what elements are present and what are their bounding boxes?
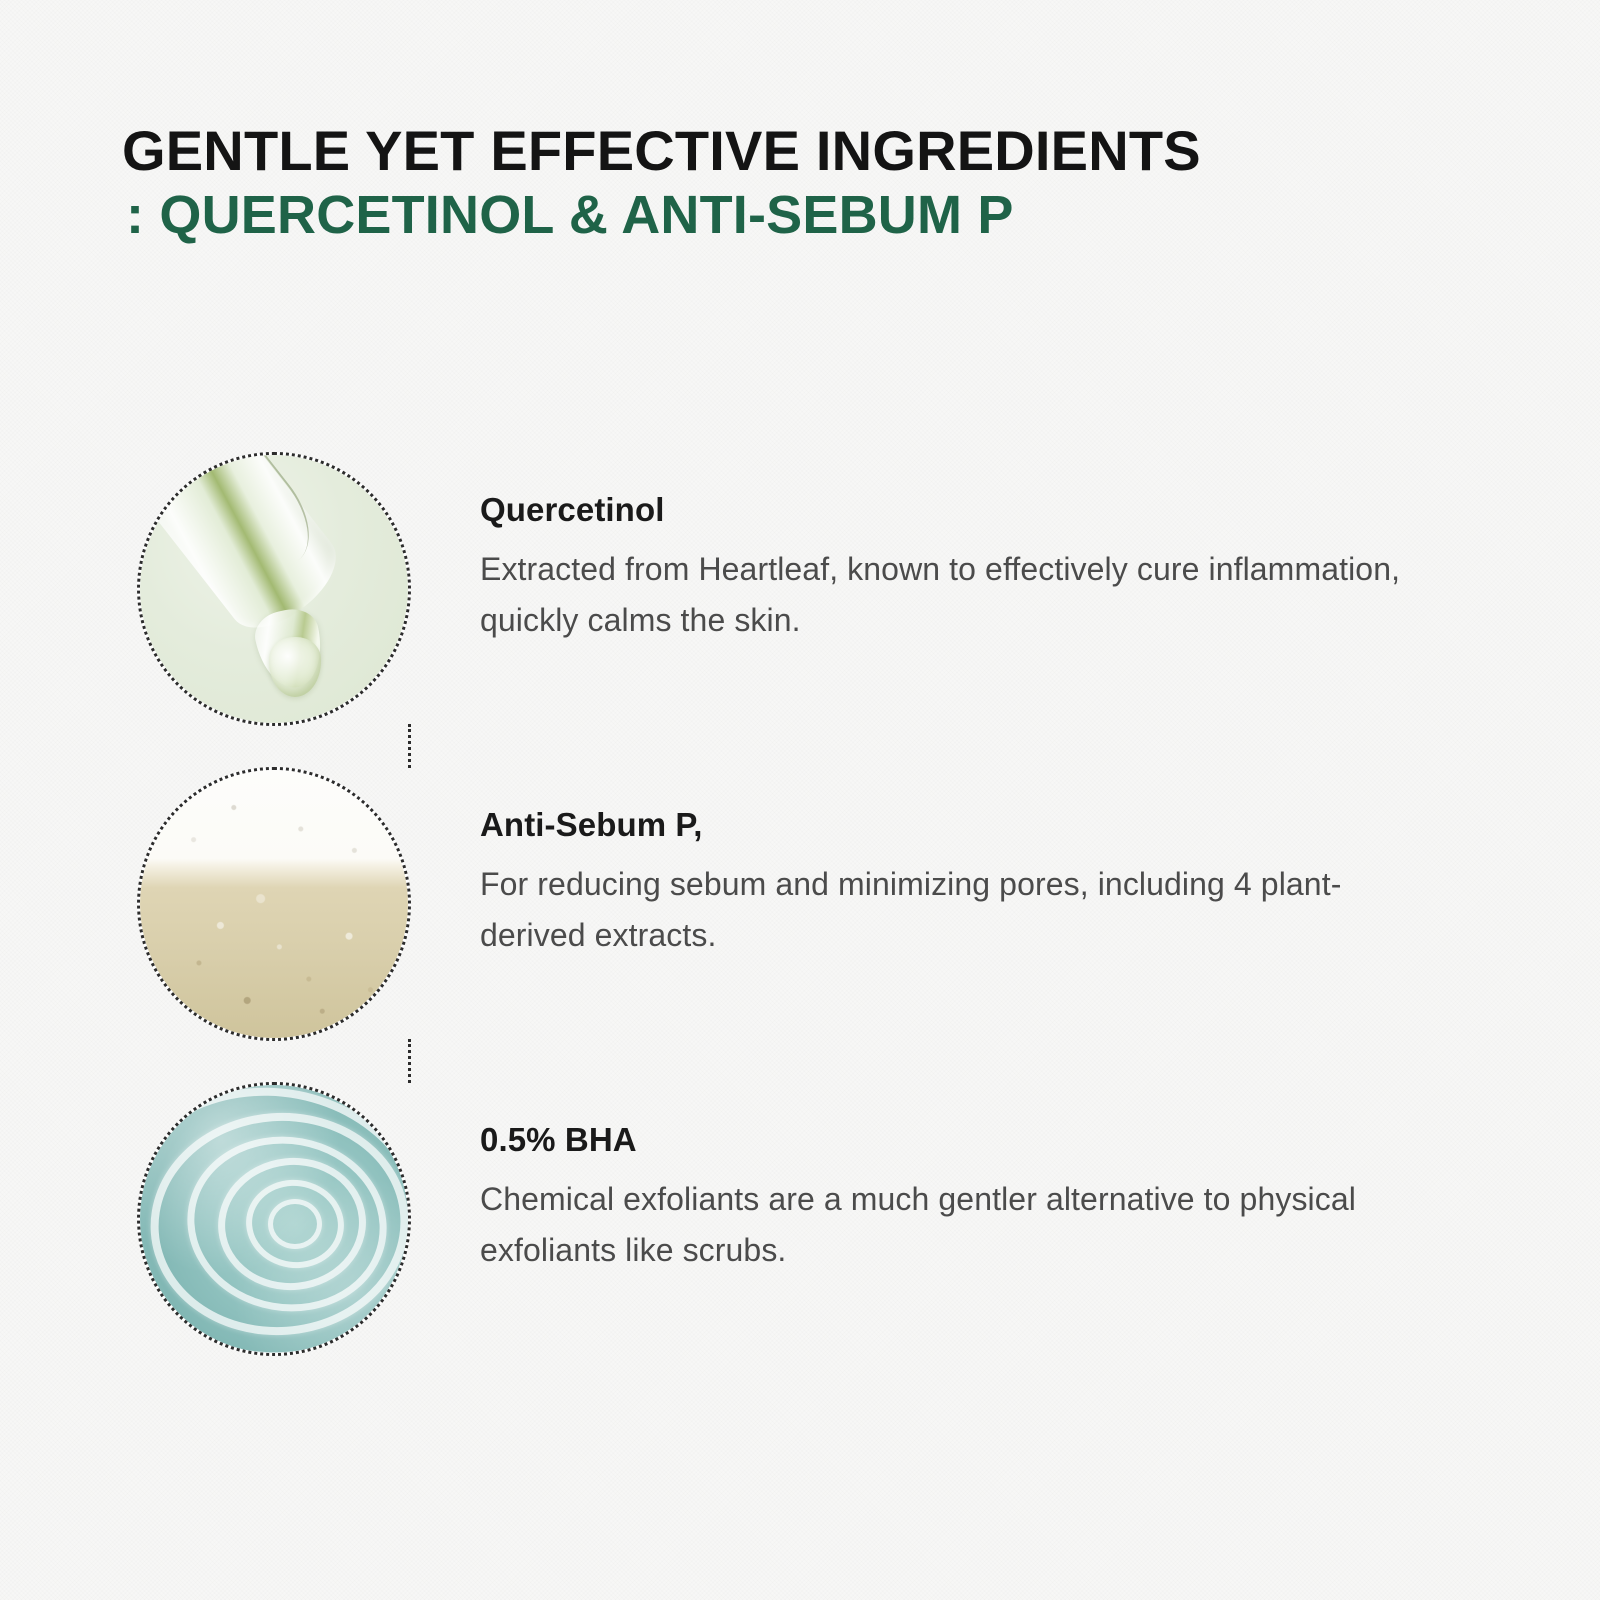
water-sheen-overlay [140, 1085, 408, 1353]
page-title: GENTLE YET EFFECTIVE INGREDIENTS : QUERC… [122, 118, 1462, 248]
teal-water-background [140, 1085, 408, 1353]
ingredient-media-bha [137, 1082, 411, 1356]
dropper-circle-icon [137, 452, 411, 726]
ingredient-media-anti-sebum-p [137, 767, 411, 1041]
ingredient-name: 0.5% BHA [480, 1120, 1430, 1160]
ingredient-row-bha: 0.5% BHA Chemical exfoliants are a much … [0, 1082, 1600, 1397]
ingredient-row-quercetinol: Quercetinol Extracted from Heartleaf, kn… [0, 452, 1600, 767]
ingredient-name: Anti-Sebum P, [480, 805, 1430, 845]
ingredient-media-quercetinol [137, 452, 411, 726]
headline-primary: GENTLE YET EFFECTIVE INGREDIENTS [122, 118, 1462, 184]
ingredient-list: Quercetinol Extracted from Heartleaf, kn… [0, 452, 1600, 1397]
ingredient-description: Extracted from Heartleaf, known to effec… [480, 544, 1430, 648]
ingredient-description: Chemical exfoliants are a much gentler a… [480, 1174, 1430, 1278]
ingredient-text-bha: 0.5% BHA Chemical exfoliants are a much … [480, 1120, 1430, 1277]
ingredient-description: For reducing sebum and minimizing pores,… [480, 859, 1430, 963]
dotted-connector-1 [408, 724, 411, 768]
ingredient-text-anti-sebum-p: Anti-Sebum P, For reducing sebum and min… [480, 805, 1430, 962]
water-ripple-circle-icon [137, 1082, 411, 1356]
dotted-connector-2 [408, 1039, 411, 1083]
headline-secondary: : QUERCETINOL & ANTI-SEBUM P [122, 184, 1462, 248]
ingredient-text-quercetinol: Quercetinol Extracted from Heartleaf, kn… [480, 490, 1430, 647]
ingredient-name: Quercetinol [480, 490, 1430, 530]
sand-speck-overlay [140, 770, 408, 1038]
exfoliant-circle-icon [137, 767, 411, 1041]
ingredient-row-anti-sebum-p: Anti-Sebum P, For reducing sebum and min… [0, 767, 1600, 1082]
